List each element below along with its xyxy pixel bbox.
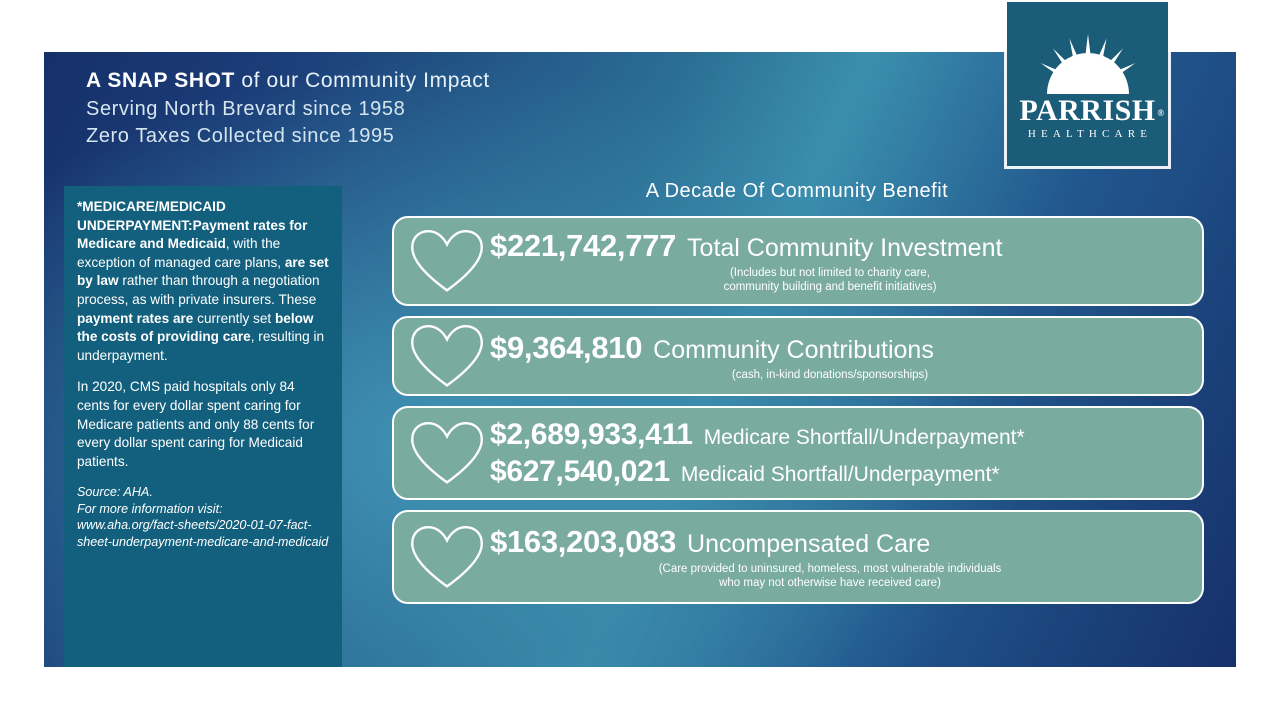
benefit-card-body: $2,689,933,411 Medicare Shortfall/Underp… xyxy=(490,418,1188,489)
logo-wordmark: PARRISH® xyxy=(1019,96,1155,126)
benefit-card-line: $2,689,933,411 Medicare Shortfall/Underp… xyxy=(490,418,1188,452)
benefit-card-body: $9,364,810 Community Contributions (cash… xyxy=(490,330,1188,383)
benefit-card-line: $221,742,777 Total Community Investment xyxy=(490,228,1188,264)
benefit-card: $221,742,777 Total Community Investment … xyxy=(392,216,1204,306)
benefit-label: Uncompensated Care xyxy=(687,530,930,559)
panel-paragraph-2: In 2020, CMS paid hospitals only 84 cent… xyxy=(77,378,329,471)
heart-icon xyxy=(404,323,490,390)
slide-subtitle-2: Zero Taxes Collected since 1995 xyxy=(86,123,490,150)
benefit-amount: $9,364,810 xyxy=(490,330,642,366)
benefit-note-line-1: (cash, in-kind donations/sponsorships) xyxy=(732,369,928,381)
panel-paragraph-1: *MEDICARE/MEDICAID UNDERPAYMENT:Payment … xyxy=(77,198,329,365)
benefit-card-line-secondary: $627,540,021 Medicaid Shortfall/Underpay… xyxy=(490,455,1188,489)
panel-source-url: www.aha.org/fact-sheets/2020-01-07-fact-… xyxy=(77,518,328,548)
logo-tagline: HEALTHCARE xyxy=(1028,126,1152,142)
sunburst-icon xyxy=(1029,32,1147,94)
panel-source: Source: AHA. For more information visit:… xyxy=(77,484,329,550)
benefit-amount: $163,203,083 xyxy=(490,524,676,560)
benefit-card-line: $163,203,083 Uncompensated Care xyxy=(490,524,1188,560)
benefit-cards: $221,742,777 Total Community Investment … xyxy=(392,216,1204,614)
underpayment-info-panel: *MEDICARE/MEDICAID UNDERPAYMENT:Payment … xyxy=(64,186,342,667)
panel-source-line-1: Source: AHA. xyxy=(77,485,153,499)
slide-title: A SNAP SHOT of our Community Impact xyxy=(86,66,490,96)
benefit-note: (cash, in-kind donations/sponsorships) xyxy=(490,368,1188,383)
headline-block: A SNAP SHOT of our Community Impact Serv… xyxy=(86,66,490,150)
benefit-card-line: $9,364,810 Community Contributions xyxy=(490,330,1188,366)
benefit-label: Community Contributions xyxy=(653,336,934,365)
logo-name-text: PARRISH xyxy=(1019,94,1155,127)
benefit-note: (Includes but not limited to charity car… xyxy=(490,266,1188,295)
panel-paragraph-1-body: Payment rates for Medicare and Medicaid,… xyxy=(77,218,329,363)
benefit-label: Medicare Shortfall/Underpayment* xyxy=(704,426,1025,450)
parrish-healthcare-logo: PARRISH® HEALTHCARE xyxy=(1007,2,1168,166)
logo-trademark: ® xyxy=(1157,98,1164,128)
heart-icon xyxy=(404,524,490,591)
benefit-note-line-1: (Care provided to uninsured, homeless, m… xyxy=(659,563,1002,575)
benefit-label: Total Community Investment xyxy=(687,234,1002,263)
benefit-note-line-2: community building and benefit initiativ… xyxy=(724,281,937,293)
benefit-card: $2,689,933,411 Medicare Shortfall/Underp… xyxy=(392,406,1204,500)
slide-page: A SNAP SHOT of our Community Impact Serv… xyxy=(0,0,1280,720)
benefit-card-body: $221,742,777 Total Community Investment … xyxy=(490,228,1188,295)
section-title: A Decade Of Community Benefit xyxy=(392,180,1202,203)
slide-subtitle-1: Serving North Brevard since 1958 xyxy=(86,96,490,123)
benefit-card: $9,364,810 Community Contributions (cash… xyxy=(392,316,1204,396)
benefit-amount: $2,689,933,411 xyxy=(490,418,693,452)
benefit-amount-secondary: $627,540,021 xyxy=(490,455,670,489)
heart-icon xyxy=(404,228,490,295)
benefit-note: (Care provided to uninsured, homeless, m… xyxy=(490,562,1188,591)
benefit-note-line-1: (Includes but not limited to charity car… xyxy=(730,267,930,279)
benefit-note-line-2: who may not otherwise have received care… xyxy=(719,577,941,589)
slide-title-rest: of our Community Impact xyxy=(235,69,490,92)
benefit-card-body: $163,203,083 Uncompensated Care (Care pr… xyxy=(490,524,1188,591)
slide-title-bold: A SNAP SHOT xyxy=(86,69,235,92)
panel-source-line-2: For more information visit: xyxy=(77,502,223,516)
heart-icon xyxy=(404,420,490,487)
benefit-amount: $221,742,777 xyxy=(490,228,676,264)
benefit-card: $163,203,083 Uncompensated Care (Care pr… xyxy=(392,510,1204,604)
benefit-label-secondary: Medicaid Shortfall/Underpayment* xyxy=(681,463,1000,487)
